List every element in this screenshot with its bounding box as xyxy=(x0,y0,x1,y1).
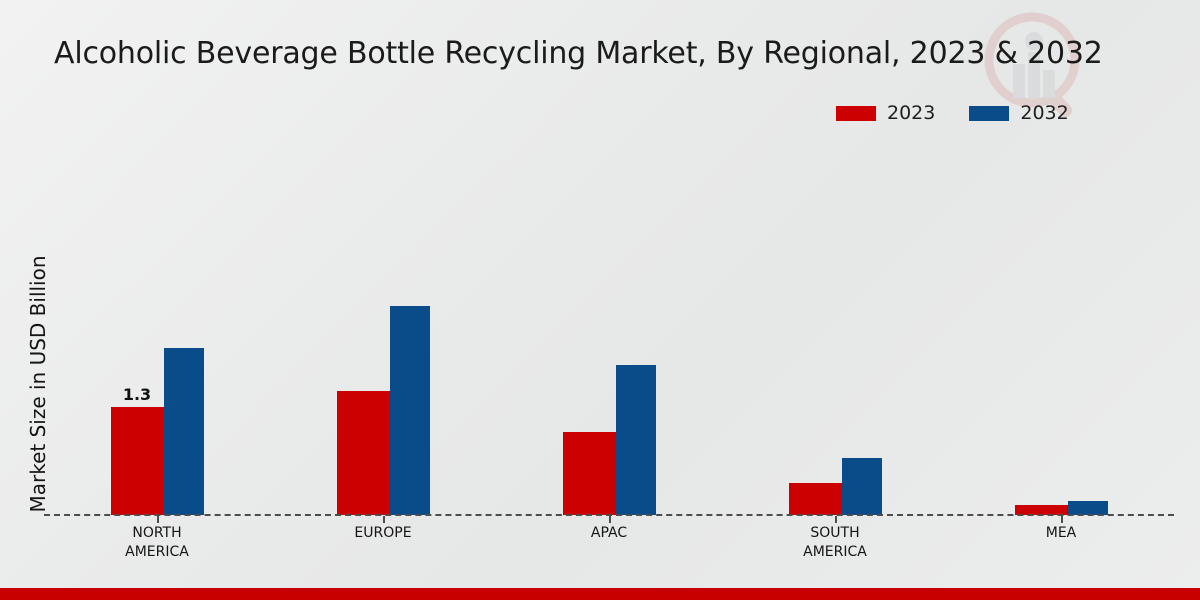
bar-group-mea xyxy=(1014,150,1108,515)
bar-group-south-america xyxy=(788,150,882,515)
bar-2023-north-america[interactable]: 1.3 xyxy=(111,407,164,515)
plot-area: 1.3 xyxy=(44,150,1174,515)
legend-item-2023[interactable]: 2023 xyxy=(836,102,935,124)
x-axis-label-apac: APAC xyxy=(509,524,709,543)
legend-label-2023: 2023 xyxy=(887,102,935,124)
x-axis-label-europe: EUROPE xyxy=(283,524,483,543)
bar-2032-north-america[interactable] xyxy=(164,348,204,515)
legend-swatch-2023 xyxy=(836,106,876,121)
chart-legend: 2023 2032 xyxy=(836,102,1069,124)
x-axis-tick-north-america xyxy=(157,516,159,523)
legend-item-2032[interactable]: 2032 xyxy=(969,102,1068,124)
x-axis-label-line: EUROPE xyxy=(283,524,483,543)
bar-2032-europe[interactable] xyxy=(390,306,430,515)
bar-2032-south-america[interactable] xyxy=(842,458,882,515)
bar-2023-apac[interactable] xyxy=(563,432,616,515)
x-axis-label-line: APAC xyxy=(509,524,709,543)
bar-2023-south-america[interactable] xyxy=(789,483,842,515)
x-axis-label-line: NORTH xyxy=(57,524,257,543)
x-axis-tick-mea xyxy=(1061,516,1063,523)
legend-swatch-2032 xyxy=(969,106,1009,121)
bar-2023-europe[interactable] xyxy=(337,391,390,515)
x-axis-label-line: MEA xyxy=(961,524,1161,543)
bottom-accent-band xyxy=(0,588,1200,600)
bar-2032-mea[interactable] xyxy=(1068,501,1108,515)
x-axis-tick-apac xyxy=(609,516,611,523)
bar-group-europe xyxy=(336,150,430,515)
x-axis-label-line: AMERICA xyxy=(735,543,935,562)
x-axis-tick-south-america xyxy=(835,516,837,523)
bar-group-apac xyxy=(562,150,656,515)
bar-value-label: 1.3 xyxy=(123,385,151,404)
x-axis-label-north-america: NORTH AMERICA xyxy=(57,524,257,562)
legend-label-2032: 2032 xyxy=(1020,102,1068,124)
x-axis-label-line: SOUTH xyxy=(735,524,935,543)
bar-group-north-america: 1.3 xyxy=(110,150,204,515)
chart-title: Alcoholic Beverage Bottle Recycling Mark… xyxy=(54,36,1154,71)
chart-canvas: Alcoholic Beverage Bottle Recycling Mark… xyxy=(0,0,1200,600)
x-axis-tick-europe xyxy=(383,516,385,523)
bar-2032-apac[interactable] xyxy=(616,365,656,515)
x-axis-label-mea: MEA xyxy=(961,524,1161,543)
x-axis-label-south-america: SOUTH AMERICA xyxy=(735,524,935,562)
x-axis-label-line: AMERICA xyxy=(57,543,257,562)
